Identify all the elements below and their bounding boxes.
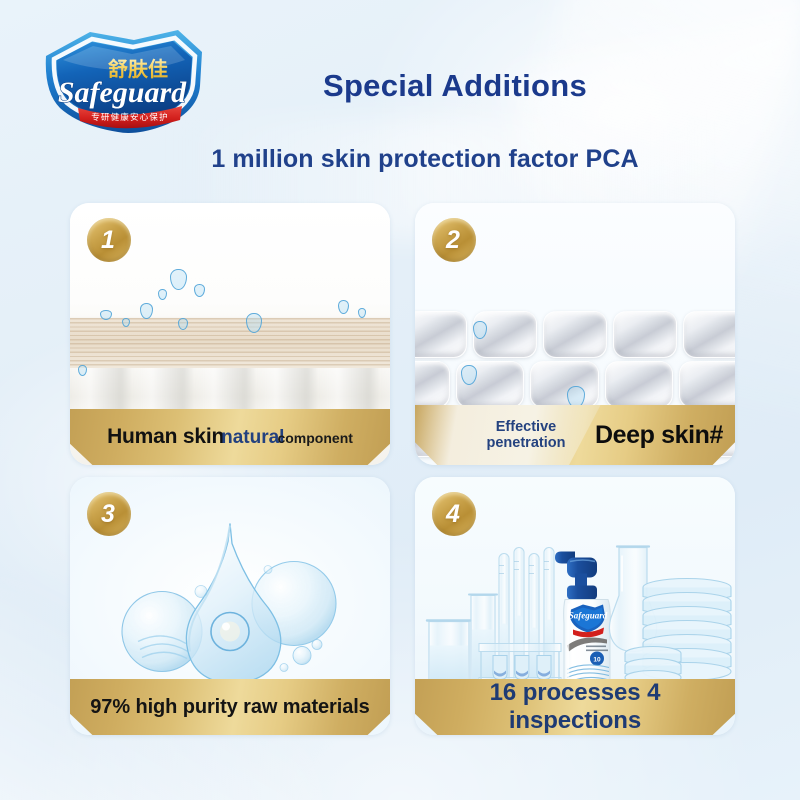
caption-text-medium: natural xyxy=(221,427,284,449)
feature-card-2[interactable]: 2 Effective penetration Deep skin# xyxy=(415,203,735,465)
caption-text: 16 processes 4 inspections xyxy=(415,679,735,735)
feature-card-1[interactable]: 1 Human skin natural component xyxy=(70,203,390,465)
feature-card-4[interactable]: Safeguard 10 xyxy=(415,477,735,735)
caption-line-1: Effective xyxy=(467,419,585,435)
card-caption-bar: 16 processes 4 inspections xyxy=(415,679,735,735)
feature-card-3[interactable]: 3 97% high purity raw materials xyxy=(70,477,390,735)
caption-text-large: Deep skin# xyxy=(595,421,723,450)
svg-text:10: 10 xyxy=(593,657,601,664)
card-number-badge: 2 xyxy=(432,218,476,262)
card-number-badge: 1 xyxy=(87,218,131,262)
card-caption-bar: Effective penetration Deep skin# xyxy=(415,405,735,465)
page-subtitle: 1 million skin protection factor PCA xyxy=(0,145,800,174)
page-title: Special Additions xyxy=(0,68,800,104)
card-caption-bar: Human skin natural component xyxy=(70,409,390,465)
card-number-badge: 3 xyxy=(87,492,131,536)
svg-text:Safeguard: Safeguard xyxy=(569,611,608,621)
caption-text: 97% high purity raw materials xyxy=(70,696,390,719)
caption-text-small: component xyxy=(277,430,352,446)
card-number-badge: 4 xyxy=(432,492,476,536)
card-caption-bar: 97% high purity raw materials xyxy=(70,679,390,735)
caption-text-large: Human skin xyxy=(107,425,224,449)
infographic-page: 舒肤佳 Safeguard 专研健康安心保护 Special Additions… xyxy=(0,0,800,800)
caption-text-small: Effective penetration xyxy=(467,419,585,451)
caption-line-2: penetration xyxy=(467,435,585,451)
feature-card-grid: 1 Human skin natural component xyxy=(70,203,735,755)
svg-text:专研健康安心保护: 专研健康安心保护 xyxy=(91,112,169,123)
